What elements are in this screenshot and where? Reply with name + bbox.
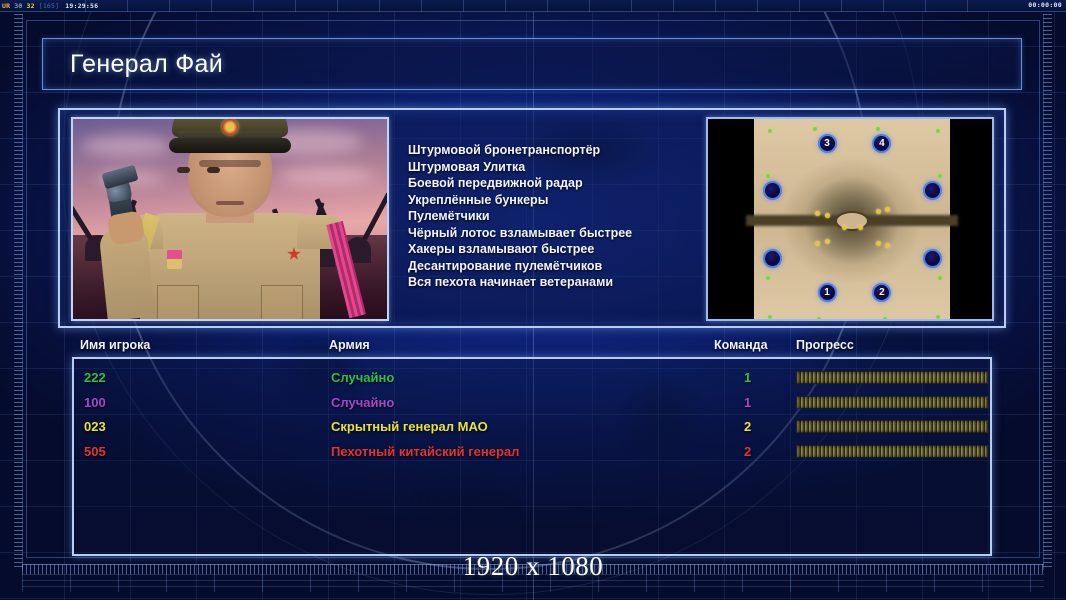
player-army: Пехотный китайский генерал [331,444,519,459]
minimap-oil-node [825,213,830,218]
portrait-pocket [261,285,303,319]
column-header-team: Команда [714,338,768,352]
minimap-marker [763,181,782,200]
minimap-supply-node [938,174,942,178]
table-row[interactable]: 023Скрытный генерал МАО2 [74,416,990,440]
minimap-supply-node [883,317,887,321]
minimap-oil-node [858,225,863,230]
ability-item: Пулемётчики [408,208,708,225]
player-progress-bar [796,396,988,409]
minimap-supply-node [817,317,821,321]
ability-item: Десантирование пулемётчиков [408,258,708,275]
minimap-supply-node [768,129,772,133]
general-abilities-list: Штурмовой бронетранспортёр Штурмовая Ули… [408,142,708,291]
minimap-start-position-2: 2 [872,283,891,302]
player-progress-bar [796,371,988,384]
ability-item: Боевой передвижной радар [408,175,708,192]
table-row[interactable]: 100Случайно1 [74,392,990,416]
page-title: Генерал Фай [43,50,223,79]
portrait-cloud [278,167,374,185]
session-clock: 00:00:00 [1028,1,1062,9]
player-progress-bar [796,420,988,433]
minimap-oil-node [876,241,881,246]
minimap-supply-node [936,129,940,133]
player-table-header: Имя игрока Армия Команда Прогресс [76,338,988,356]
minimap-supply-node [876,127,880,131]
top-status-bar: UR 30 32 [165] 19:29:56 00:00:00 [0,0,1066,12]
portrait-cap-brim [169,138,291,153]
portrait-eye [177,167,190,173]
minimap-terrain: 3412 [754,119,950,321]
column-header-army: Армия [329,338,370,352]
player-army: Скрытный генерал МАО [331,419,488,434]
player-team: 1 [744,395,751,410]
ruler-right [1043,14,1052,570]
portrait-pocket [157,285,199,319]
player-army: Случайно [331,395,394,410]
general-portrait [71,117,389,321]
portrait-mouth [216,201,244,205]
player-army: Случайно [331,370,394,385]
minimap-supply-node [766,174,770,178]
minimap-supply-node [938,276,942,280]
minimap-start-position-1: 1 [818,283,837,302]
minimap-supply-node [768,315,772,319]
minimap-marker [923,181,942,200]
minimap-supply-node [936,315,940,319]
minimap-start-position-3: 3 [818,134,837,153]
ability-item: Хакеры взламывают быстрее [408,241,708,258]
status-value-1: 30 [12,2,24,10]
portrait-eye [207,167,220,173]
minimap-oil-node [885,243,890,248]
general-info-panel: Штурмовой бронетранспортёр Штурмовая Ули… [58,108,1006,328]
player-name: 222 [84,370,106,385]
portrait-cap-badge [222,119,238,135]
status-value-2: 32 [24,2,36,10]
player-table-panel: 222Случайно1100Случайно1023Скрытный гене… [72,357,992,556]
status-bracket: [165] [37,2,62,10]
column-header-player: Имя игрока [80,338,150,352]
ability-item: Штурмовой бронетранспортёр [408,142,708,159]
player-team: 1 [744,370,751,385]
minimap-preview[interactable]: 3412 [706,117,994,321]
player-name: 023 [84,419,106,434]
ability-item: Штурмовая Улитка [408,159,708,176]
ruler-left [14,14,23,570]
minimap-start-position-4: 4 [872,134,891,153]
resolution-label: 1920 x 1080 [0,551,1066,582]
column-header-progress: Прогресс [796,338,854,352]
player-team: 2 [744,419,751,434]
ability-item: Чёрный лотос взламывает быстрее [408,225,708,242]
topbar-tick-marks [85,0,996,12]
player-name: 505 [84,444,106,459]
minimap-marker [763,249,782,268]
minimap-oil-node [825,239,830,244]
minimap-supply-node [813,127,817,131]
portrait-medal [167,250,182,269]
portrait-cloud [81,135,171,157]
player-progress-bar [796,445,988,458]
minimap-marker [923,249,942,268]
table-row[interactable]: 222Случайно1 [74,367,990,391]
minimap-oil-node [815,211,820,216]
minimap-oil-node [842,225,847,230]
minimap-oil-node [815,241,820,246]
minimap-supply-node [766,276,770,280]
player-name: 100 [84,395,106,410]
minimap-oil-node [885,207,890,212]
player-team: 2 [744,444,751,459]
ability-item: Укреплённые бункеры [408,192,708,209]
minimap-oil-node [876,209,881,214]
table-row[interactable]: 505Пехотный китайский генерал2 [74,441,990,465]
status-tag: UR [0,2,12,10]
title-panel: Генерал Фай [42,38,1022,90]
portrait-brow [199,160,261,167]
ability-item: Вся пехота начинает ветеранами [408,274,708,291]
